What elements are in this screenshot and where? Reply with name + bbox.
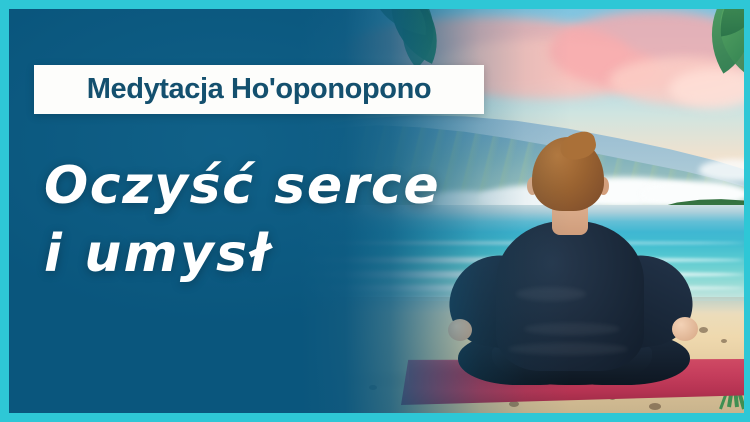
title-plate: Medytacja Ho'oponopono <box>34 65 484 114</box>
headline-line-2: i umysł <box>44 220 464 288</box>
headline-line-1: Oczyść serce <box>44 152 464 220</box>
page-title: Medytacja Ho'oponopono <box>87 73 431 106</box>
frame-top-edge <box>0 0 750 9</box>
frame-bottom-edge <box>0 413 750 422</box>
frame-left-edge <box>0 0 9 422</box>
text-layer: Medytacja Ho'oponopono Oczyść serce i um… <box>0 0 750 422</box>
headline: Oczyść serce i umysł <box>44 152 464 288</box>
video-thumbnail: Medytacja Ho'oponopono Oczyść serce i um… <box>0 0 750 422</box>
frame-right-edge <box>744 0 750 422</box>
